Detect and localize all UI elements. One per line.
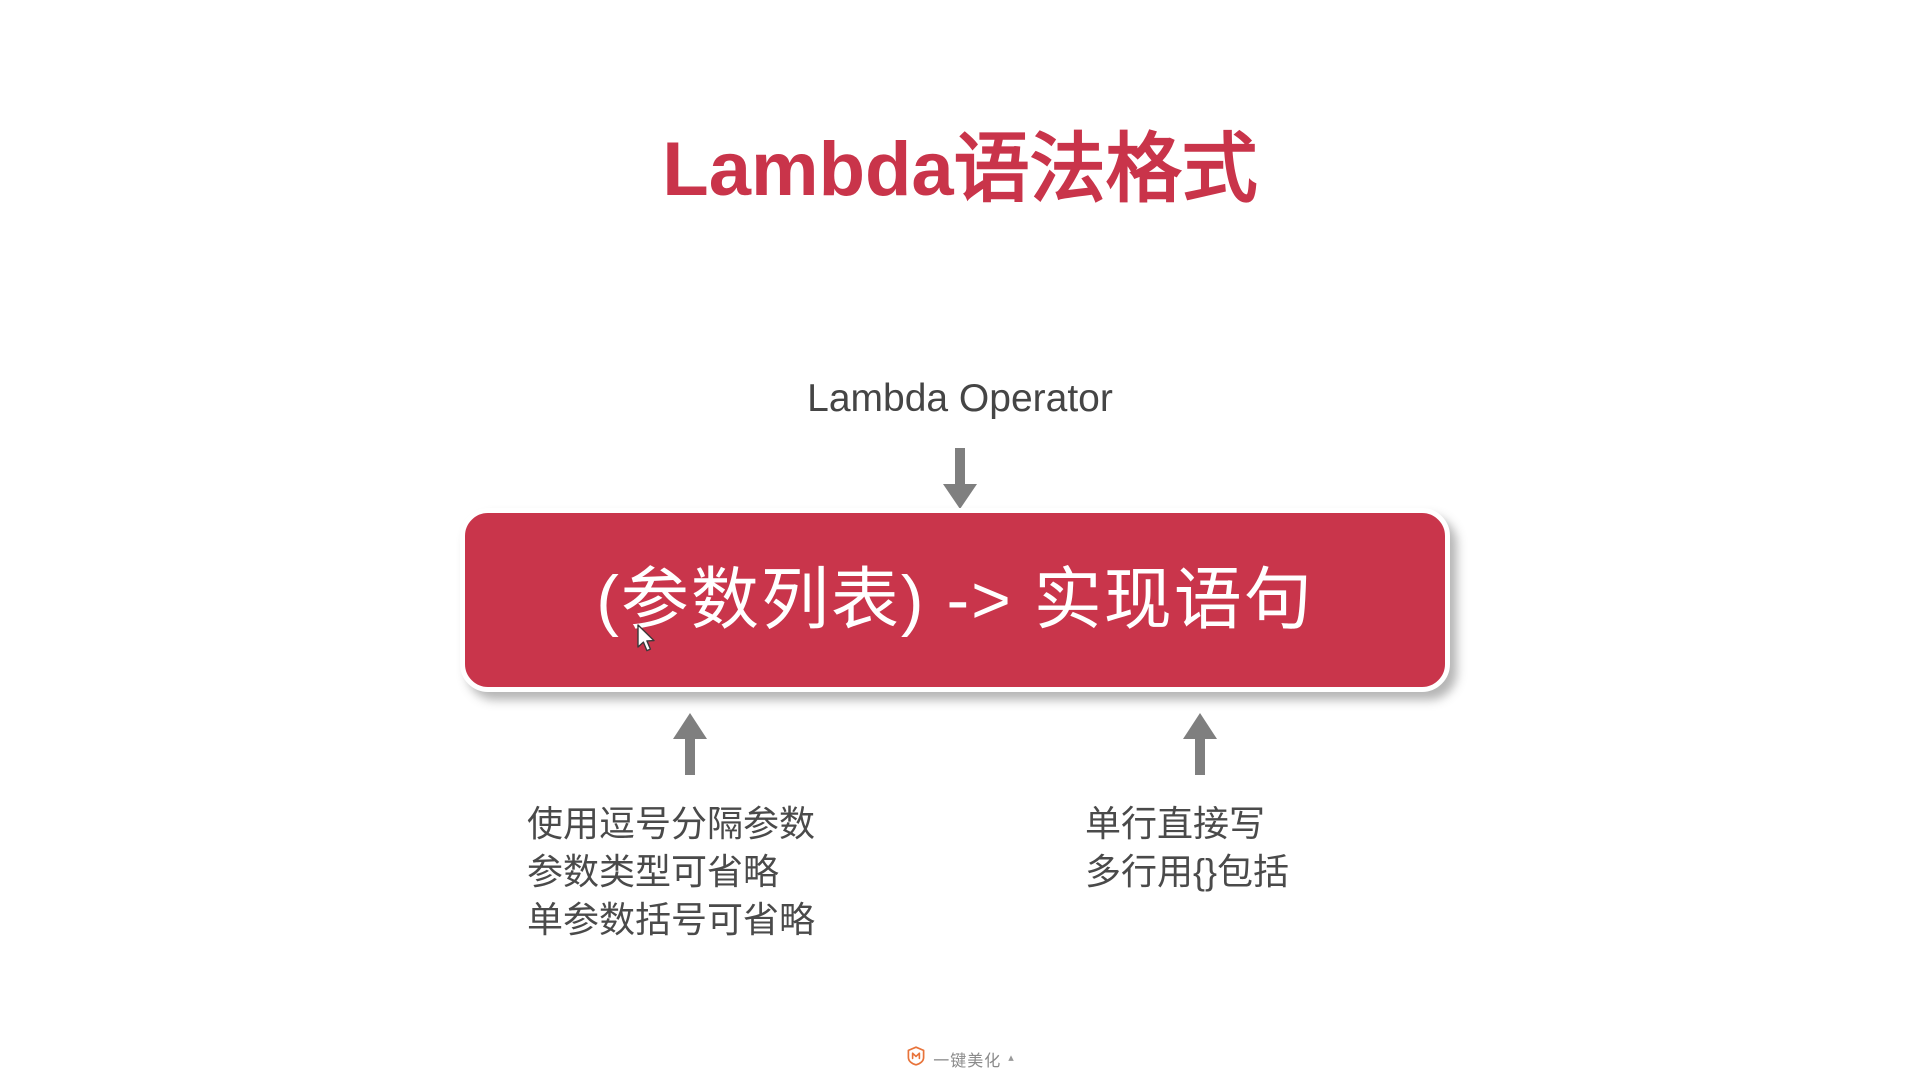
arrow-down-icon xyxy=(938,448,982,515)
note-left-line-1: 使用逗号分隔参数 xyxy=(527,800,815,848)
lambda-syntax-text: (参数列表) -> 实现语句 xyxy=(596,566,1313,634)
note-right-line-1: 单行直接写 xyxy=(1085,800,1289,848)
lambda-syntax-box[interactable]: (参数列表) -> 实现语句 xyxy=(460,508,1450,692)
arrow-up-left-icon xyxy=(668,712,712,781)
note-left-line-3: 单参数括号可省略 xyxy=(527,896,815,944)
chevron-up-icon: ▴ xyxy=(1008,1053,1014,1064)
watermark-label: 一键美化 xyxy=(933,1047,1001,1071)
yijianmeihua-logo-icon xyxy=(906,1046,926,1071)
lambda-operator-caption: Lambda Operator xyxy=(0,376,1920,423)
note-left-parameters: 使用逗号分隔参数 参数类型可省略 单参数括号可省略 xyxy=(527,800,815,944)
note-right-line-2: 多行用{}包括 xyxy=(1085,848,1289,896)
arrow-up-right-icon xyxy=(1178,712,1222,781)
page-title: Lambda语法格式 xyxy=(0,128,1920,212)
note-left-line-2: 参数类型可省略 xyxy=(527,848,815,896)
note-right-body: 单行直接写 多行用{}包括 xyxy=(1085,800,1289,896)
watermark: 一键美化 ▴ xyxy=(0,1046,1920,1071)
slide-canvas: Lambda语法格式 Lambda Operator (参数列表) -> 实现语… xyxy=(0,0,1920,1080)
